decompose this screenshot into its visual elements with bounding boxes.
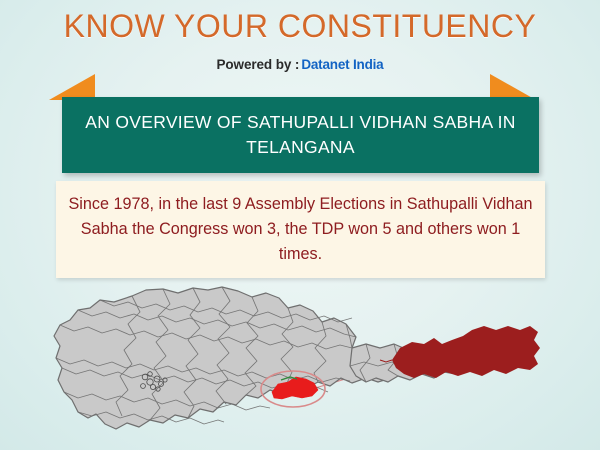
constituency-inset (380, 326, 540, 378)
summary-text: Since 1978, in the last 9 Assembly Elect… (56, 192, 545, 267)
map-area (0, 282, 600, 450)
brand-name: Datanet India (301, 57, 383, 72)
infographic-canvas: KNOW YOUR CONSTITUENCY Powered by :Datan… (0, 0, 600, 450)
powered-by-row: Powered by :Datanet India (0, 56, 600, 74)
banner-title: AN OVERVIEW OF SATHUPALLI VIDHAN SABHA I… (62, 110, 539, 160)
page-title: KNOW YOUR CONSTITUENCY (0, 6, 600, 46)
banner: AN OVERVIEW OF SATHUPALLI VIDHAN SABHA I… (62, 97, 539, 173)
summary-box: Since 1978, in the last 9 Assembly Elect… (56, 181, 545, 278)
ribbon: AN OVERVIEW OF SATHUPALLI VIDHAN SABHA I… (0, 74, 600, 174)
powered-by-label: Powered by : (217, 57, 300, 72)
telangana-map-svg (0, 282, 600, 450)
